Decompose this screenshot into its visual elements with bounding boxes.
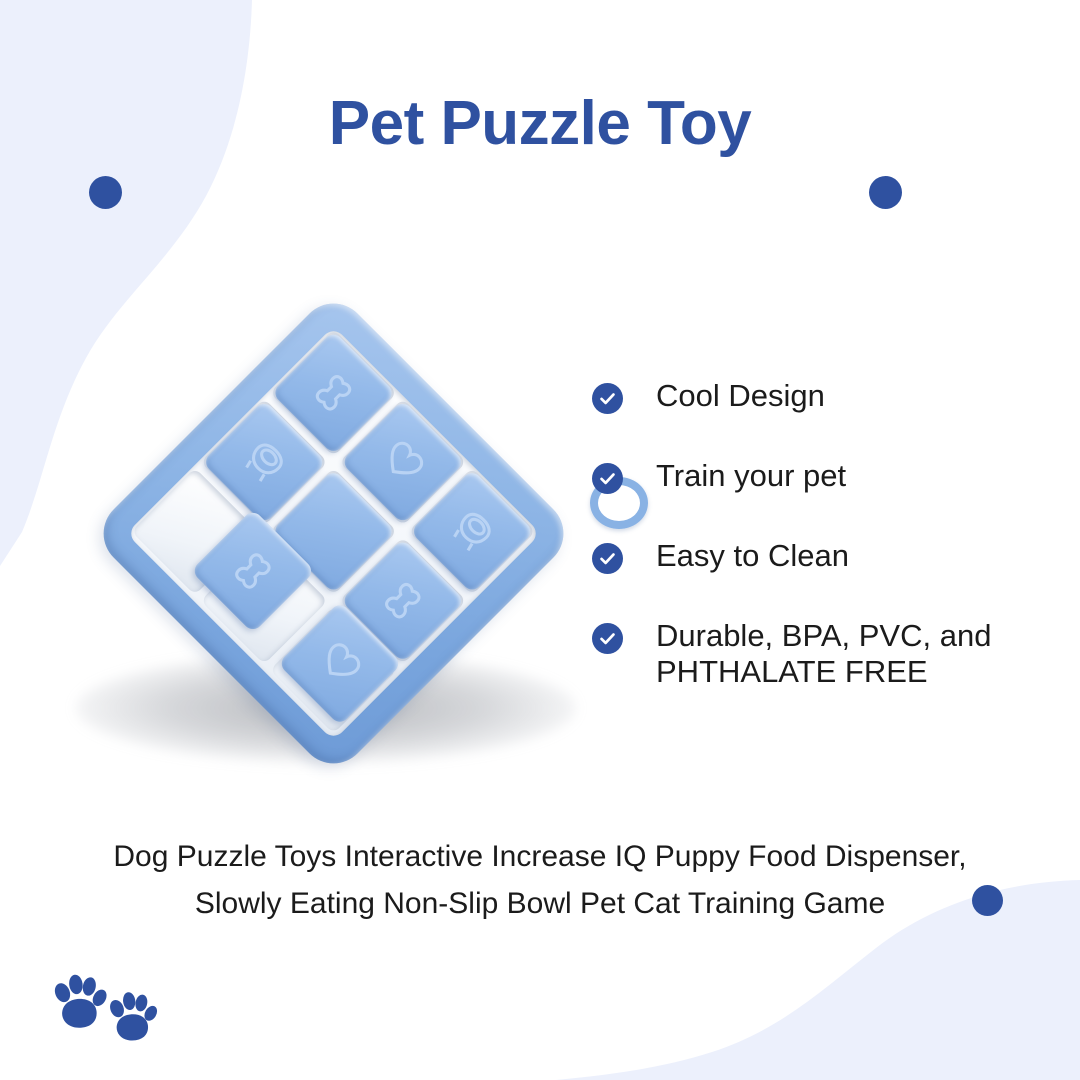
feature-label: Durable, BPA, PVC, and PHTHALATE FREE [656,618,991,690]
paw-prints-decoration [40,968,170,1048]
product-image [48,325,618,785]
heart-icon [307,631,372,696]
check-circle-icon [592,543,623,574]
check-circle-icon [592,623,623,654]
infographic-canvas: Pet Puzzle Toy [0,0,1080,1080]
feature-item: Easy to Clean [592,538,1042,574]
check-circle-icon [592,463,623,494]
bone-icon [370,568,435,633]
bowl-icon [232,430,297,495]
bowl-icon [440,499,505,564]
feature-label: Train your pet [656,458,846,494]
bone-icon [301,360,366,425]
page-title: Pet Puzzle Toy [0,88,1080,159]
heart-icon [370,430,435,495]
feature-label: Cool Design [656,378,825,414]
feature-list: Cool Design Train your pet Easy to Clean [592,378,1042,690]
paw-print-right [102,988,162,1048]
bone-icon [220,538,285,603]
feature-item: Train your pet [592,458,1042,494]
decor-dot-top-left [89,176,122,209]
decor-dot-top-right [869,176,902,209]
check-circle-icon [592,383,623,414]
feature-item: Durable, BPA, PVC, and PHTHALATE FREE [592,618,1042,690]
feature-item: Cool Design [592,378,1042,414]
feature-label: Easy to Clean [656,538,849,574]
product-description: Dog Puzzle Toys Interactive Increase IQ … [90,833,990,927]
